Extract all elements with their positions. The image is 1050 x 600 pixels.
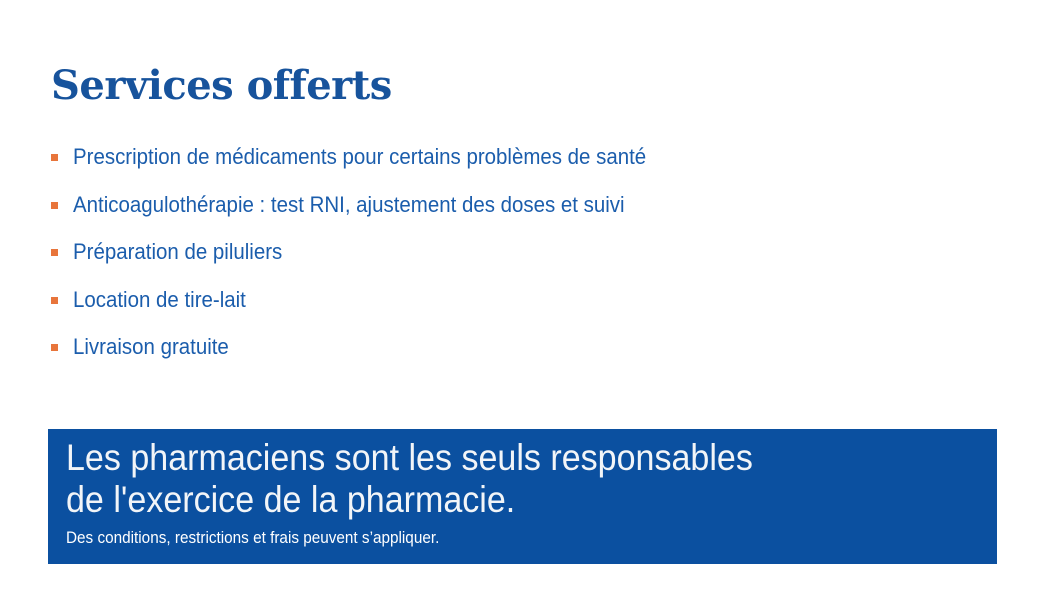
banner-subtext: Des conditions, restrictions et frais pe…: [66, 527, 904, 549]
banner-headline-line-2: de l'exercice de la pharmacie.: [66, 479, 923, 521]
list-item-label: Anticoagulothérapie : test RNI, ajusteme…: [73, 191, 917, 219]
list-item: Prescription de médicaments pour certain…: [51, 143, 981, 191]
square-bullet-icon: [51, 154, 58, 161]
banner-headline: Les pharmaciens sont les seuls responsab…: [66, 437, 923, 521]
list-item: Location de tire-lait: [51, 286, 981, 334]
list-item-label: Location de tire-lait: [73, 286, 917, 314]
banner-headline-line-1: Les pharmaciens sont les seuls responsab…: [66, 437, 923, 479]
page-title: Services offerts: [51, 62, 392, 110]
list-item-label: Livraison gratuite: [73, 333, 917, 361]
services-list: Prescription de médicaments pour certain…: [51, 143, 981, 381]
slide-canvas: Services offerts Prescription de médicam…: [0, 0, 1050, 600]
list-item: Anticoagulothérapie : test RNI, ajusteme…: [51, 191, 981, 239]
square-bullet-icon: [51, 249, 58, 256]
list-item-label: Préparation de piluliers: [73, 238, 917, 266]
list-item: Préparation de piluliers: [51, 238, 981, 286]
disclaimer-banner: Les pharmaciens sont les seuls responsab…: [48, 429, 997, 564]
list-item: Livraison gratuite: [51, 333, 981, 381]
list-item-label: Prescription de médicaments pour certain…: [73, 143, 917, 171]
square-bullet-icon: [51, 202, 58, 209]
square-bullet-icon: [51, 344, 58, 351]
square-bullet-icon: [51, 297, 58, 304]
